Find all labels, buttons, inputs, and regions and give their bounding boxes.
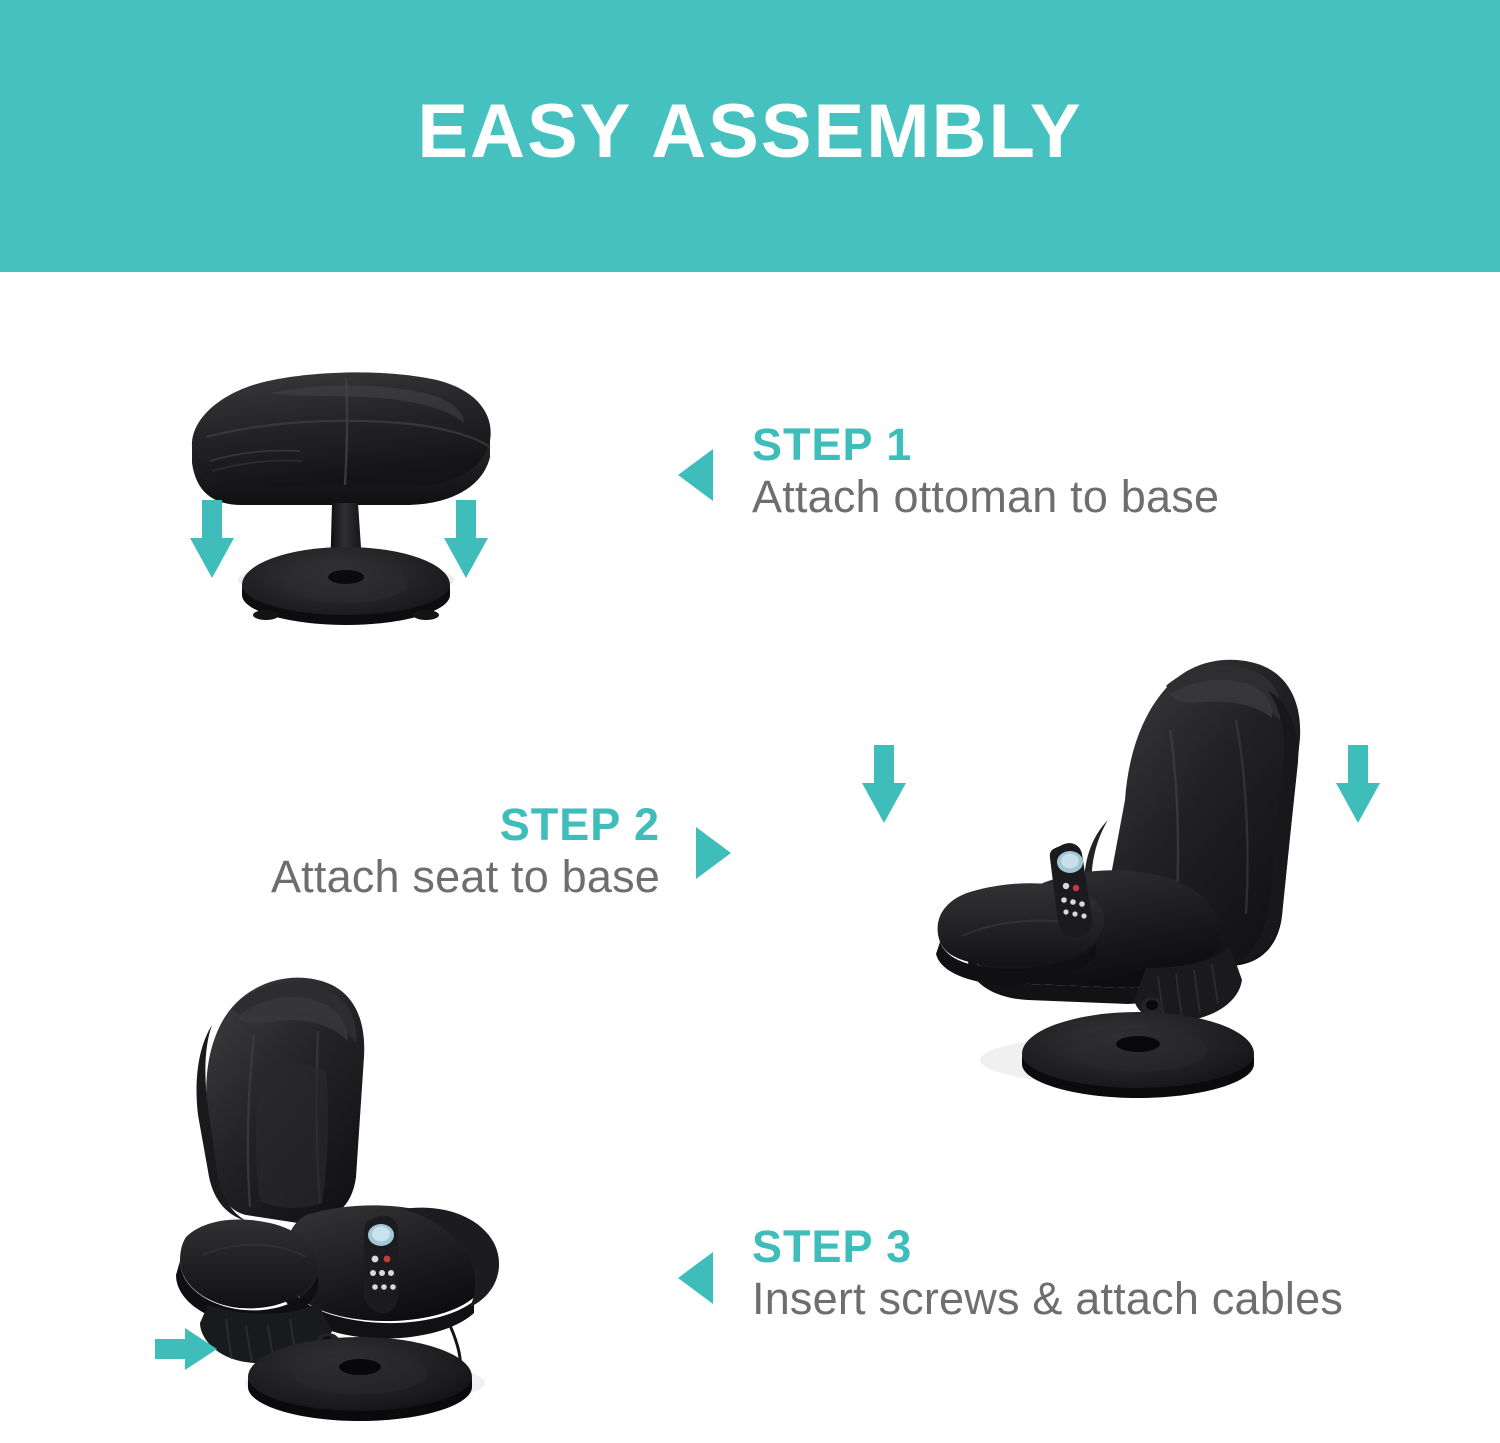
infographic-page: EASY ASSEMBLY	[0, 0, 1500, 1443]
arrow-right-icon	[155, 1328, 217, 1370]
step-3-label: STEP 3	[752, 1222, 1343, 1272]
arrow-down-icon	[190, 500, 234, 578]
remote-control-icon	[364, 1216, 398, 1314]
arrow-down-icon	[1336, 745, 1380, 823]
step-2-description: Attach seat to base	[140, 850, 660, 904]
triangle-left-icon	[678, 1252, 713, 1304]
triangle-left-icon	[678, 449, 713, 501]
arrow-down-icon	[444, 500, 488, 578]
step-3-text-block: STEP 3 Insert screws & attach cables	[752, 1222, 1343, 1326]
page-title: EASY ASSEMBLY	[417, 94, 1082, 178]
step-1-text-block: STEP 1 Attach ottoman to base	[752, 420, 1219, 524]
step-1-label: STEP 1	[752, 420, 1219, 470]
step-2-text-block: STEP 2 Attach seat to base	[140, 800, 660, 904]
step-2-label: STEP 2	[140, 800, 660, 850]
step-3-description: Insert screws & attach cables	[752, 1272, 1343, 1326]
arrow-down-icon	[862, 745, 906, 823]
triangle-right-icon	[696, 827, 731, 879]
header-banner: EASY ASSEMBLY	[0, 0, 1500, 272]
massage-chair-with-base-icon	[870, 650, 1390, 1110]
step-1-description: Attach ottoman to base	[752, 470, 1219, 524]
